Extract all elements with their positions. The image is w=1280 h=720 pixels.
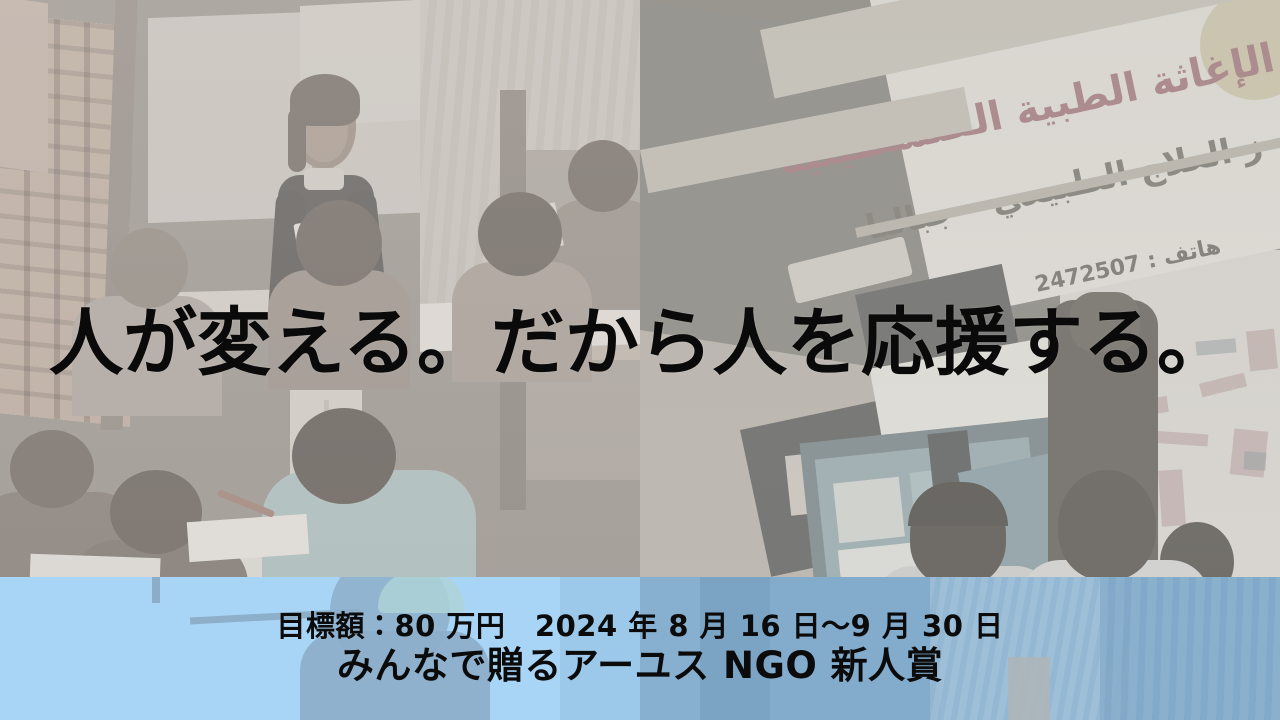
bottom-banner: 目標額：80 万円 2024 年 8 月 16 日〜9 月 30 日 みんなで贈… — [0, 577, 1280, 720]
banner-text-block: 目標額：80 万円 2024 年 8 月 16 日〜9 月 30 日 みんなで贈… — [0, 577, 1280, 720]
poster-headline: 人が変える。だから人を応援する。 — [0, 306, 1280, 380]
banner-award-name: みんなで贈るアーユス NGO 新人賞 — [337, 647, 943, 686]
campaign-poster: الإغاثة الطبية الفلسطينية ز العلاج الطبي… — [0, 0, 1280, 720]
banner-goal-and-period: 目標額：80 万円 2024 年 8 月 16 日〜9 月 30 日 — [276, 611, 1003, 641]
